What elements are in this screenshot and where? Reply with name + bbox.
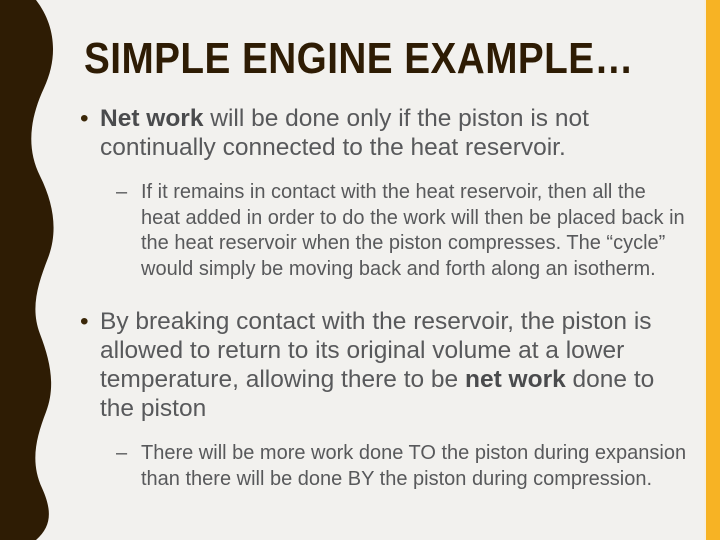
orange-accent-bar <box>706 0 720 540</box>
bullet-marker-dot: • <box>80 104 89 133</box>
sub-bullet-item-1: –If it remains in contact with the heat … <box>108 180 690 282</box>
sub-bullet-marker-dash: – <box>116 180 127 206</box>
sub-bullet-1-text: If it remains in contact with the heat r… <box>141 181 685 280</box>
sub-bullet-marker-dash: – <box>116 441 127 467</box>
bullet-item-2: •By breaking contact with the reservoir,… <box>78 307 690 423</box>
bullet-1-bold-lead: Net work <box>100 105 203 132</box>
bullet-group-1: •Net work will be done only if the pisto… <box>78 104 690 282</box>
slide-title: SIMPLE ENGINE EXAMPLE… <box>84 34 612 84</box>
wavy-brown-band <box>0 0 70 540</box>
slide-canvas: SIMPLE ENGINE EXAMPLE… •Net work will be… <box>0 0 720 540</box>
bullet-group-2: •By breaking contact with the reservoir,… <box>78 307 690 492</box>
bullet-marker-dot: • <box>80 307 89 336</box>
bullet-item-1: •Net work will be done only if the pisto… <box>78 104 690 162</box>
bullet-2-bold-tail: net work <box>465 366 566 393</box>
sub-bullet-item-2: –There will be more work done TO the pis… <box>108 441 690 492</box>
slide-body: •Net work will be done only if the pisto… <box>78 104 690 492</box>
sub-bullet-2-text: There will be more work done TO the pist… <box>141 442 686 490</box>
